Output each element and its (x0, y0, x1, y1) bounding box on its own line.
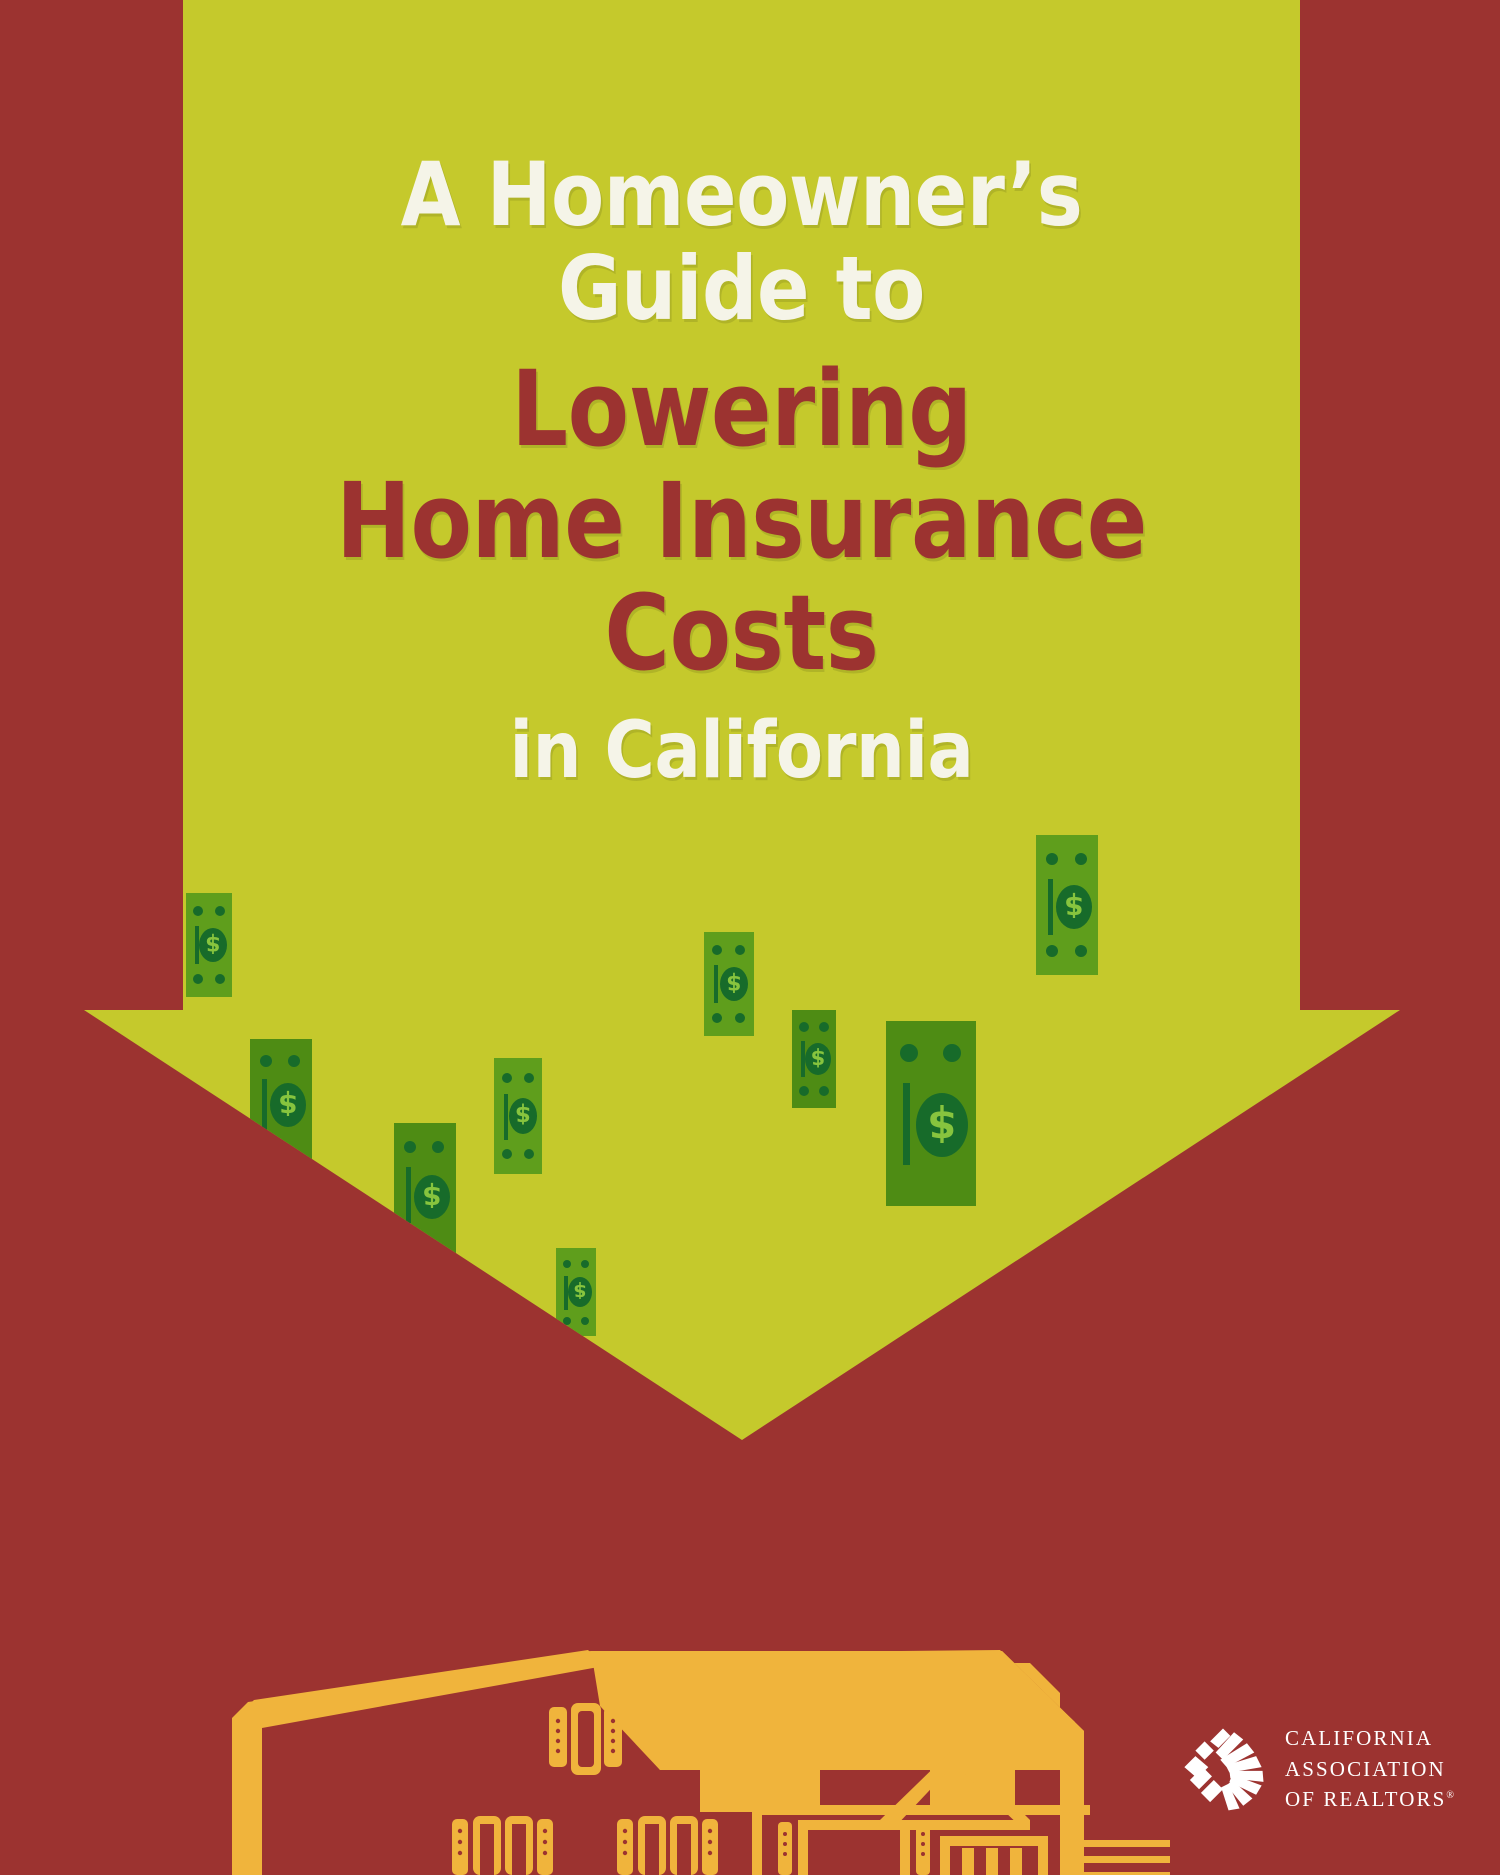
house-outline-illustration (232, 1650, 1170, 1875)
logo-of-realtors-text: OF REALTORS (1285, 1787, 1446, 1811)
title-line-5: Costs (261, 580, 1222, 686)
title-line-3: Lowering (261, 356, 1222, 462)
money-bill: $ (792, 1010, 836, 1108)
money-bill: $ (494, 1058, 542, 1174)
title-line-4: Home Insurance (261, 468, 1222, 574)
logo-line-california: CALIFORNIA (1285, 1723, 1454, 1753)
cover-page: $ $ $ (0, 0, 1500, 1875)
logo-line-of-realtors: OF REALTORS® (1285, 1784, 1454, 1814)
attic-window (549, 1703, 622, 1775)
money-bill: $ (886, 1021, 976, 1206)
svg-text:$: $ (205, 931, 220, 956)
money-bill: $ (704, 932, 754, 1036)
svg-text:$: $ (278, 1088, 297, 1121)
svg-text:$: $ (1064, 890, 1083, 923)
title-line-1: A Homeowner’s (250, 150, 1233, 240)
title-line-6: in California (250, 712, 1233, 792)
car-diamond-fan-logo-icon (1177, 1723, 1269, 1815)
car-logo: CALIFORNIA ASSOCIATION OF REALTORS® (1177, 1723, 1454, 1815)
svg-text:$: $ (573, 1280, 586, 1302)
logo-line-association: ASSOCIATION (1285, 1754, 1454, 1784)
money-bill: $ (186, 893, 232, 997)
svg-text:$: $ (515, 1101, 531, 1127)
car-logo-text: CALIFORNIA ASSOCIATION OF REALTORS® (1285, 1723, 1454, 1814)
svg-text:$: $ (927, 1101, 956, 1150)
title-line-2: Guide to (250, 244, 1233, 334)
svg-text:$: $ (422, 1180, 441, 1213)
registered-trademark-icon: ® (1446, 1790, 1454, 1801)
svg-text:$: $ (811, 1046, 826, 1070)
page-title: A Homeowner’s Guide to Lowering Home Ins… (183, 150, 1300, 791)
svg-text:$: $ (726, 970, 741, 995)
money-bill: $ (1036, 835, 1098, 975)
